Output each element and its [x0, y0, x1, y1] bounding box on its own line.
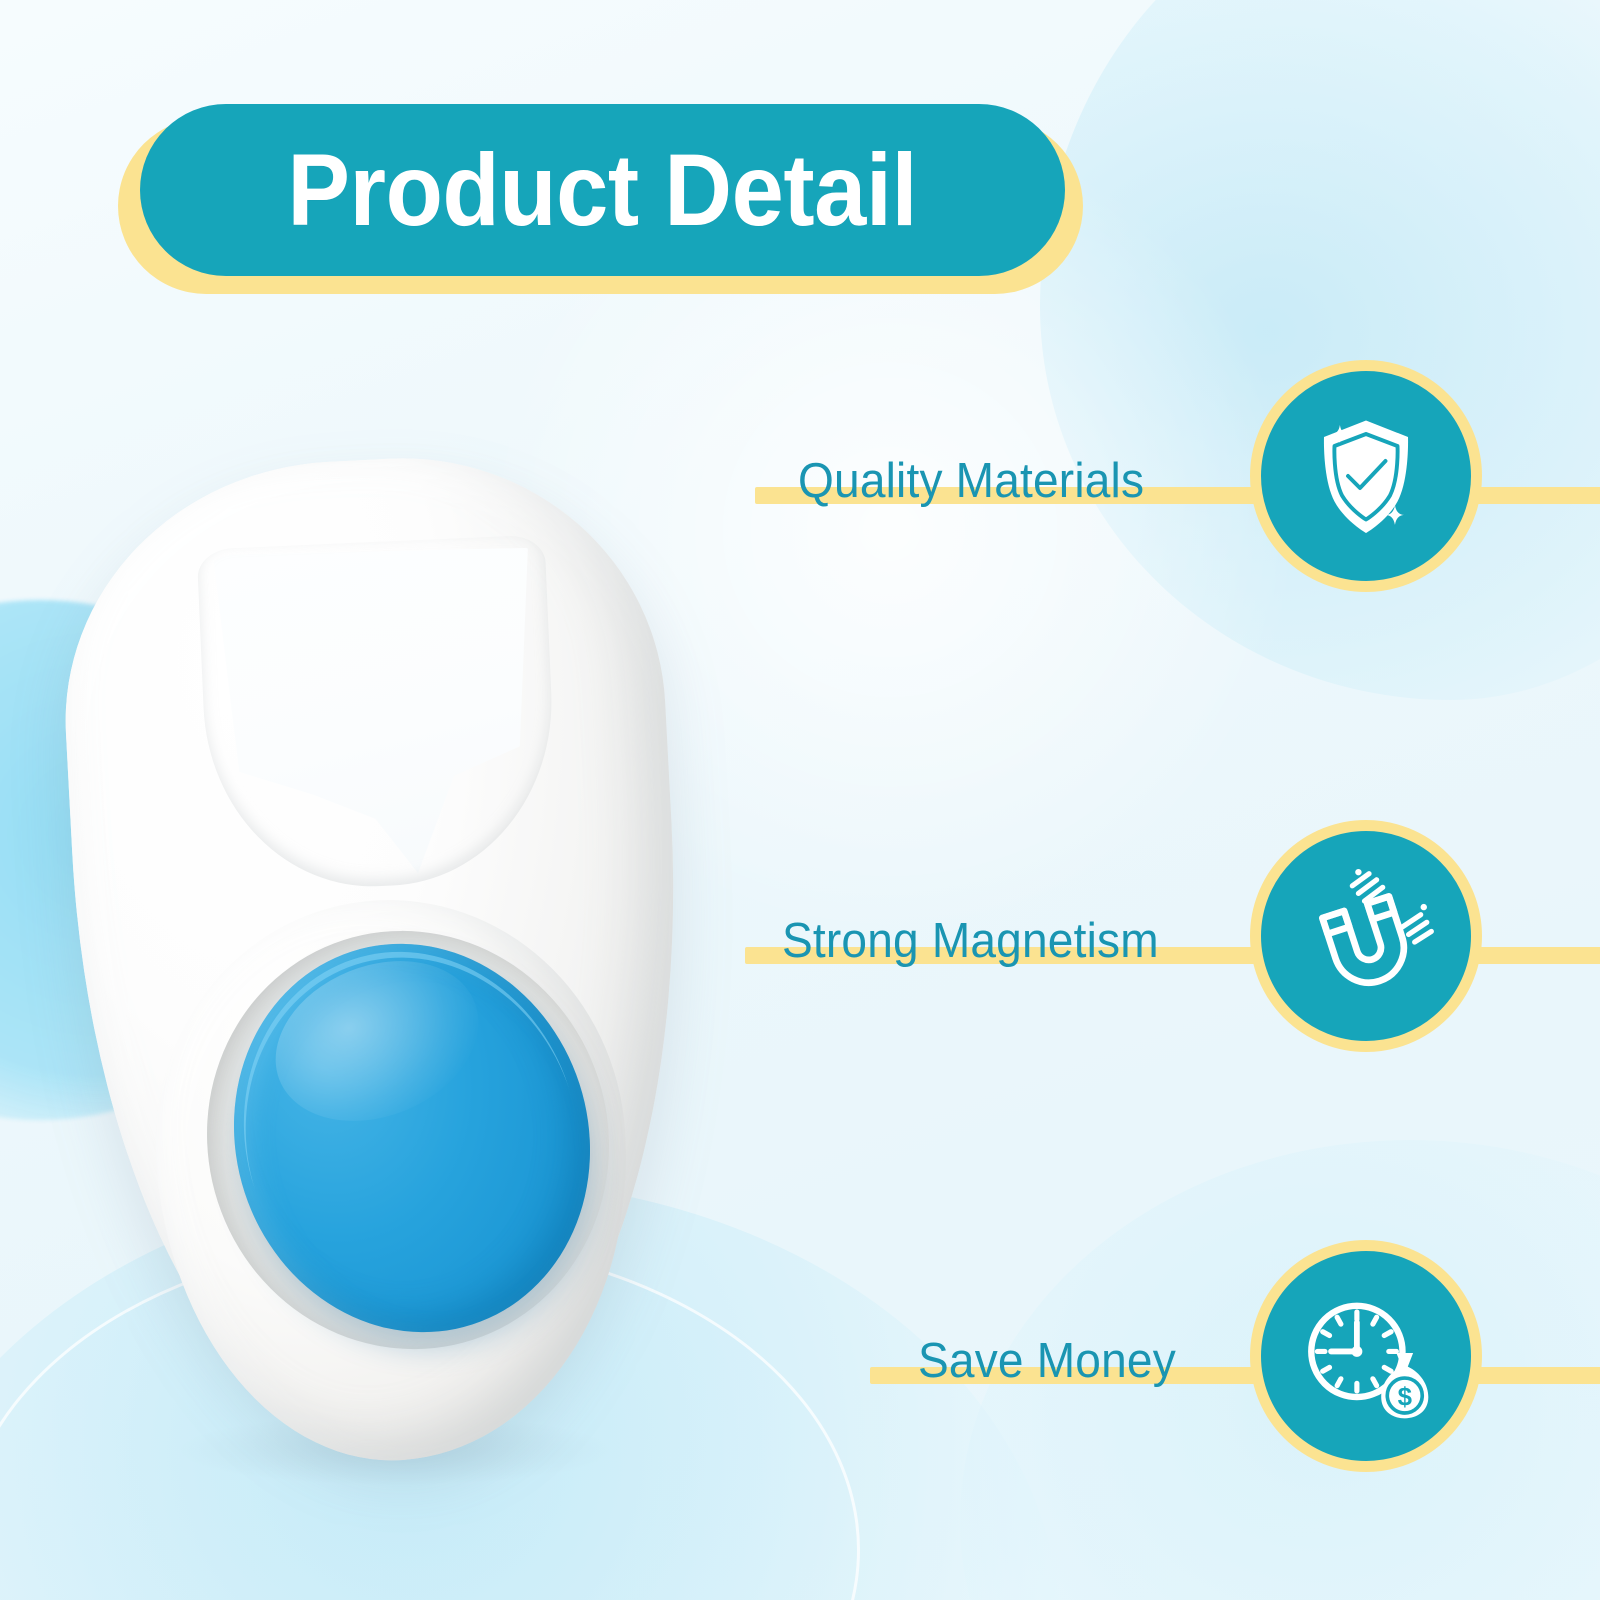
banner-pill: Product Detail	[140, 104, 1065, 276]
page-title: Product Detail	[288, 132, 918, 249]
feature-icon-badge	[1250, 360, 1482, 592]
feature-label: Save Money	[918, 1333, 1176, 1389]
feature-icon-badge: $	[1250, 1240, 1482, 1472]
feature-strong-magnetism: Strong Magnetism	[740, 820, 1500, 1056]
product-image	[60, 430, 720, 1470]
shield-check-icon	[1291, 401, 1441, 551]
feature-icon-badge	[1250, 820, 1482, 1052]
feature-label: Strong Magnetism	[782, 913, 1159, 969]
feature-label: Quality Materials	[798, 453, 1144, 509]
feature-save-money: Save Money	[870, 1240, 1500, 1476]
svg-text:$: $	[1398, 1383, 1412, 1411]
horseshoe-magnet-icon	[1290, 860, 1442, 1012]
product-detail-infographic: Product Detail Quality Materials	[0, 0, 1600, 1600]
clock-money-bag-icon: $	[1290, 1280, 1442, 1432]
feature-quality-materials: Quality Materials	[740, 360, 1500, 596]
page-title-banner: Product Detail	[118, 104, 1083, 292]
